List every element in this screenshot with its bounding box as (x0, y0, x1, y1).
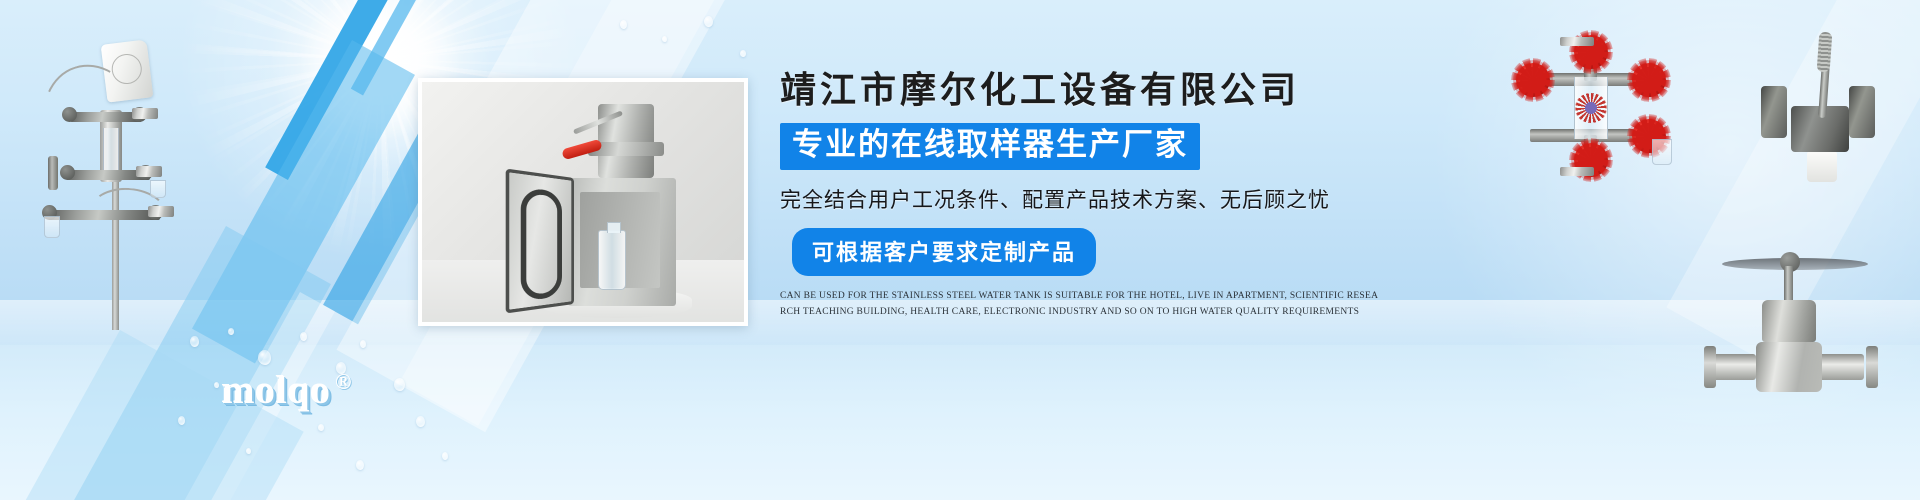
cabinet-door (506, 168, 574, 313)
brand-logo-text: molqo (222, 369, 331, 412)
subline-text: 完全结合用户工况条件、配置产品技术方案、无后顾之忧 (780, 184, 1420, 214)
pipe-flange (1560, 37, 1594, 46)
sample-bottle (150, 180, 166, 198)
lever-handle (1817, 32, 1833, 73)
english-description-text: CAN BE USED FOR THE STAINLESS STEEL WATE… (780, 288, 1380, 320)
brand-logo: molqo® (222, 368, 352, 413)
gate-valve-image (1700, 230, 1890, 410)
red-handwheel (1632, 63, 1666, 97)
valve-bonnet (1762, 300, 1816, 342)
door-gasket (521, 187, 562, 301)
pipe-flange (1560, 167, 1594, 176)
relief-valve (48, 156, 58, 190)
pipe-flange (1866, 346, 1878, 388)
lever-valve-image (1745, 28, 1905, 198)
pipe-flange (1704, 346, 1716, 388)
red-handwheel (1516, 63, 1550, 97)
pipe-flange (136, 166, 162, 177)
valve-body (1756, 342, 1822, 392)
company-seal-mark (1574, 93, 1608, 123)
sample-bottle (1652, 139, 1672, 165)
banner-text-block: 靖江市摩尔化工设备有限公司 专业的在线取样器生产厂家 完全结合用户工况条件、配置… (780, 70, 1420, 320)
valve-flange (1761, 86, 1787, 138)
valve-flange (1849, 86, 1875, 138)
pipe-connection (1710, 354, 1756, 380)
pipe-connection (1818, 354, 1864, 380)
headline-text: 专业的在线取样器生产厂家 (792, 127, 1188, 162)
product-photo (418, 78, 748, 326)
custom-product-pill: 可根据客户要求定制产品 (792, 228, 1096, 276)
headline-highlight-bar: 专业的在线取样器生产厂家 (780, 123, 1200, 170)
registered-trademark-icon: ® (335, 369, 352, 394)
sample-bottle (44, 216, 60, 238)
sample-cup (1807, 152, 1837, 182)
cross-valve-assembly-image (1500, 35, 1680, 175)
sample-bottle (598, 230, 626, 290)
company-title: 靖江市摩尔化工设备有限公司 (780, 70, 1420, 111)
left-sampler-equipment-image (8, 20, 188, 330)
promotional-banner: 靖江市摩尔化工设备有限公司 专业的在线取样器生产厂家 完全结合用户工况条件、配置… (0, 0, 1920, 500)
custom-product-pill-text: 可根据客户要求定制产品 (812, 240, 1076, 265)
